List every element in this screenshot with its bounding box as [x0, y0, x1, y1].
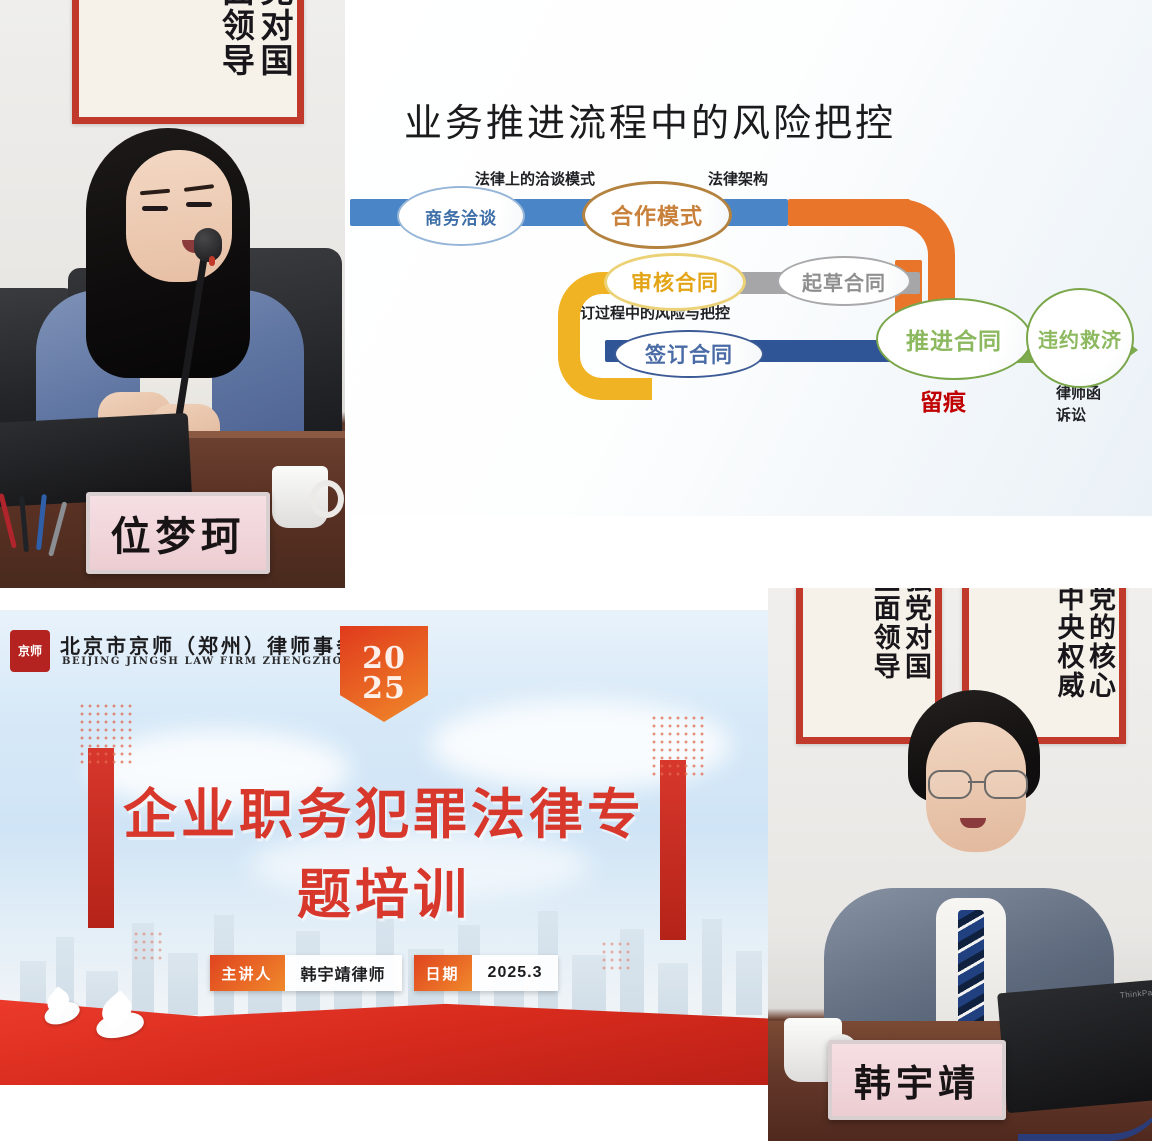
date-tag: 日期 2025.3 — [414, 955, 559, 991]
speaker-mouth — [960, 818, 986, 828]
glasses-lens — [928, 770, 972, 799]
cover-title-line1: 企业职务犯罪法律专 — [0, 770, 768, 849]
glasses-bridge — [968, 781, 984, 783]
microphone-indicator — [209, 256, 215, 266]
eye — [186, 202, 212, 207]
annotation-留痕: 留痕 — [920, 383, 966, 417]
node-合作模式[interactable]: 合作模式 — [582, 181, 732, 249]
date-label: 日期 — [414, 955, 472, 991]
name-plate-text: 位梦珂 — [111, 504, 246, 562]
eyebrow — [140, 189, 170, 196]
pen — [19, 496, 29, 552]
cover-title-line2: 题培训 — [0, 850, 768, 929]
speaker-face — [126, 150, 232, 282]
scroll-columns: 全党的核心 党中央权威 — [1053, 588, 1113, 700]
photo-man-speaker: 强党对国 全面领导 全党的核心 党中央权威 韩宇靖 — [768, 588, 1152, 1141]
annotation-label: 法律上的洽谈模式 — [475, 168, 595, 189]
slide-title-text: 业务推进流程中的风险把控 — [404, 92, 896, 147]
node-推进合同[interactable]: 推进合同 — [876, 298, 1032, 380]
name-plate-text: 韩宇靖 — [854, 1053, 980, 1107]
decor-halftone — [78, 702, 134, 764]
eye — [142, 206, 168, 211]
speaker-tag: 主讲人 韩宇靖律师 — [210, 955, 402, 991]
node-违约救济[interactable]: 违约救济 — [1026, 288, 1134, 388]
scroll-columns: 党对国 面领导 — [218, 0, 291, 78]
node-签订合同[interactable]: 签订合同 — [614, 330, 764, 378]
cover-meta-row: 主讲人 韩宇靖律师 日期 2025.3 — [0, 955, 768, 991]
name-plate: 位梦珂 — [86, 492, 270, 574]
speaker-value: 韩宇靖律师 — [285, 955, 402, 991]
scroll-column-1: 强党对国 — [901, 588, 929, 681]
year-badge: 20 25 — [340, 626, 428, 722]
cable — [1018, 1074, 1152, 1141]
pen — [36, 494, 47, 550]
photo-woman-speaker: 党对国 面领导 位梦珂 — [0, 0, 345, 588]
eyeglasses-icon — [928, 770, 1024, 796]
scroll-columns: 强党对国 全面领导 — [869, 588, 929, 681]
speaker-label: 主讲人 — [210, 955, 285, 991]
firm-name-cn: 北京市京师（郑州）律师事务所 — [60, 630, 382, 659]
slide-title-cover: 京师 北京市京师（郑州）律师事务所 BEIJING JINGSH LAW FIR… — [0, 610, 768, 1085]
wall-scroll-calligraphy: 党对国 面领导 — [72, 0, 304, 124]
node-商务洽谈[interactable]: 商务洽谈 — [397, 186, 525, 246]
microphone-icon — [194, 228, 222, 262]
eyebrow — [184, 184, 214, 192]
node-起草合同[interactable]: 起草合同 — [777, 256, 911, 306]
tea-cup — [272, 466, 328, 528]
scroll-column-2: 面领导 — [218, 0, 253, 78]
pen — [48, 501, 67, 556]
glasses-lens — [984, 770, 1028, 799]
seal-text: 京师 — [18, 645, 42, 657]
scroll-column-2: 党中央权威 — [1053, 588, 1081, 700]
decor-halftone — [650, 714, 708, 776]
slide-flowchart: 业务推进流程中的风险把控 法律上的洽谈模式 法律架构 签订过程中的风险与把控 留… — [350, 0, 1152, 516]
node-审核合同[interactable]: 审核合同 — [604, 253, 746, 311]
pen-holder — [6, 492, 70, 562]
annotation-label: 法律架构 — [708, 168, 768, 189]
annotation-label: 诉讼 — [1056, 404, 1086, 425]
scroll-column-1: 党对国 — [256, 0, 291, 78]
year-bottom: 25 — [340, 674, 428, 704]
name-plate: 韩宇靖 — [828, 1040, 1006, 1120]
scroll-column-1: 全党的核心 — [1085, 588, 1113, 700]
scroll-column-2: 全面领导 — [869, 588, 897, 681]
firm-seal-logo: 京师 — [10, 630, 50, 672]
year-top: 20 — [340, 644, 428, 674]
date-value: 2025.3 — [472, 955, 559, 991]
